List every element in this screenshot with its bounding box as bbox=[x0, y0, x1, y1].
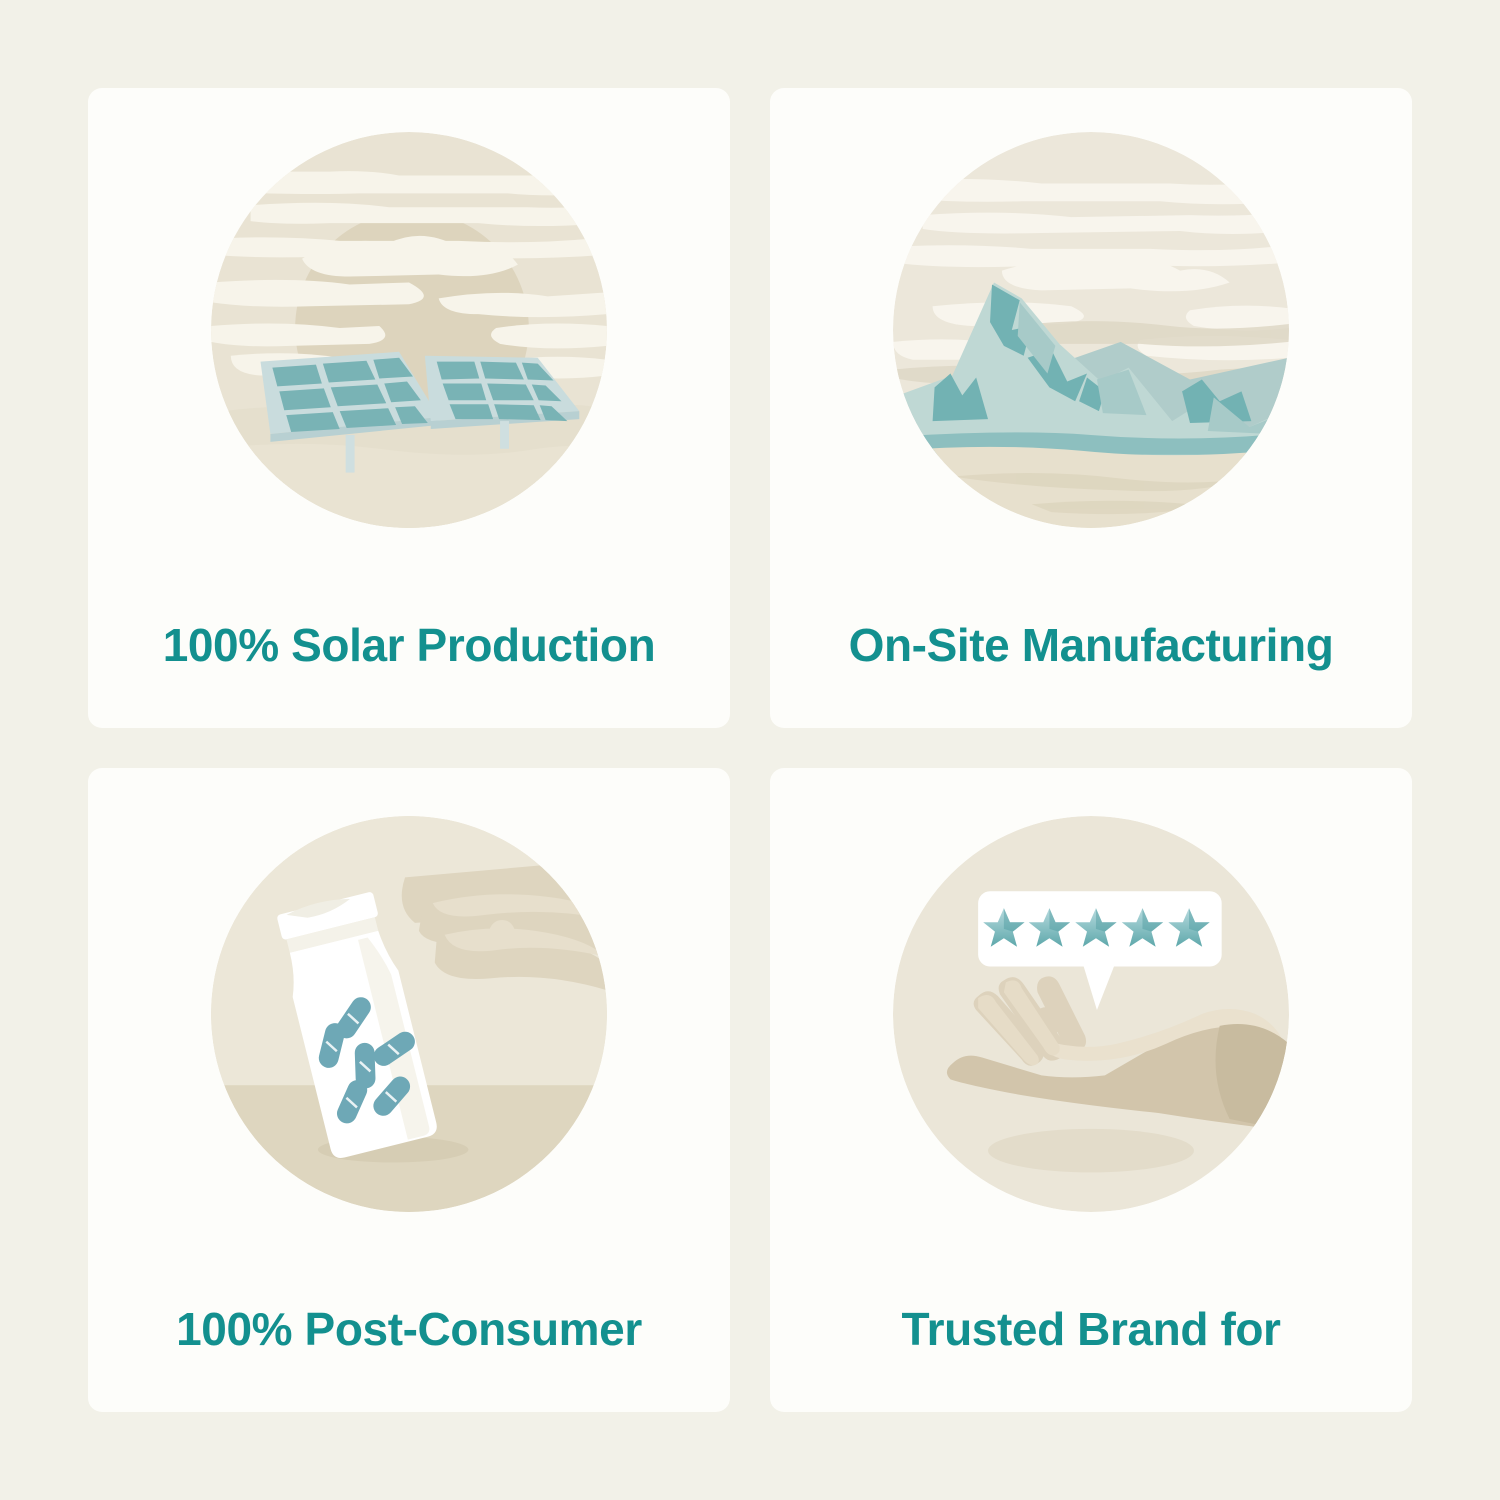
panel-post-left bbox=[346, 435, 355, 473]
card-caption-bottles: 100% Post-Consumer Recycled Resin Bottle… bbox=[143, 1240, 675, 1412]
hand-shadow bbox=[988, 1129, 1194, 1173]
caption-line-1: On-Site Manufacturing bbox=[849, 616, 1334, 676]
hand-five-stars-illustration bbox=[893, 816, 1289, 1212]
panel-post-right bbox=[500, 421, 509, 449]
card-caption-trusted: Trusted Brand for Over 45 Years bbox=[885, 1240, 1296, 1412]
caption-line-1: 100% Post-Consumer bbox=[159, 1300, 659, 1360]
solar-panels-illustration bbox=[211, 132, 607, 528]
feature-card-grid: 100% Solar Production Zero Carbon Footpr… bbox=[88, 88, 1412, 1412]
feature-card-on-site-manufacturing[interactable]: On-Site Manufacturing Henderson, Nevada bbox=[770, 88, 1412, 728]
feature-card-recycled-resin-bottles[interactable]: 100% Post-Consumer Recycled Resin Bottle… bbox=[88, 768, 730, 1412]
card-caption-manufacturing: On-Site Manufacturing Henderson, Nevada bbox=[833, 556, 1350, 728]
feature-card-solar-production[interactable]: 100% Solar Production Zero Carbon Footpr… bbox=[88, 88, 730, 728]
caption-line-1: Trusted Brand for bbox=[901, 1300, 1280, 1360]
supplement-bottle-illustration bbox=[211, 816, 607, 1212]
caption-line-1: 100% Solar Production bbox=[163, 616, 656, 676]
mountain-landscape-illustration bbox=[893, 132, 1289, 528]
feature-card-trusted-brand[interactable]: Trusted Brand for Over 45 Years bbox=[770, 768, 1412, 1412]
card-caption-solar: 100% Solar Production Zero Carbon Footpr… bbox=[147, 556, 672, 728]
